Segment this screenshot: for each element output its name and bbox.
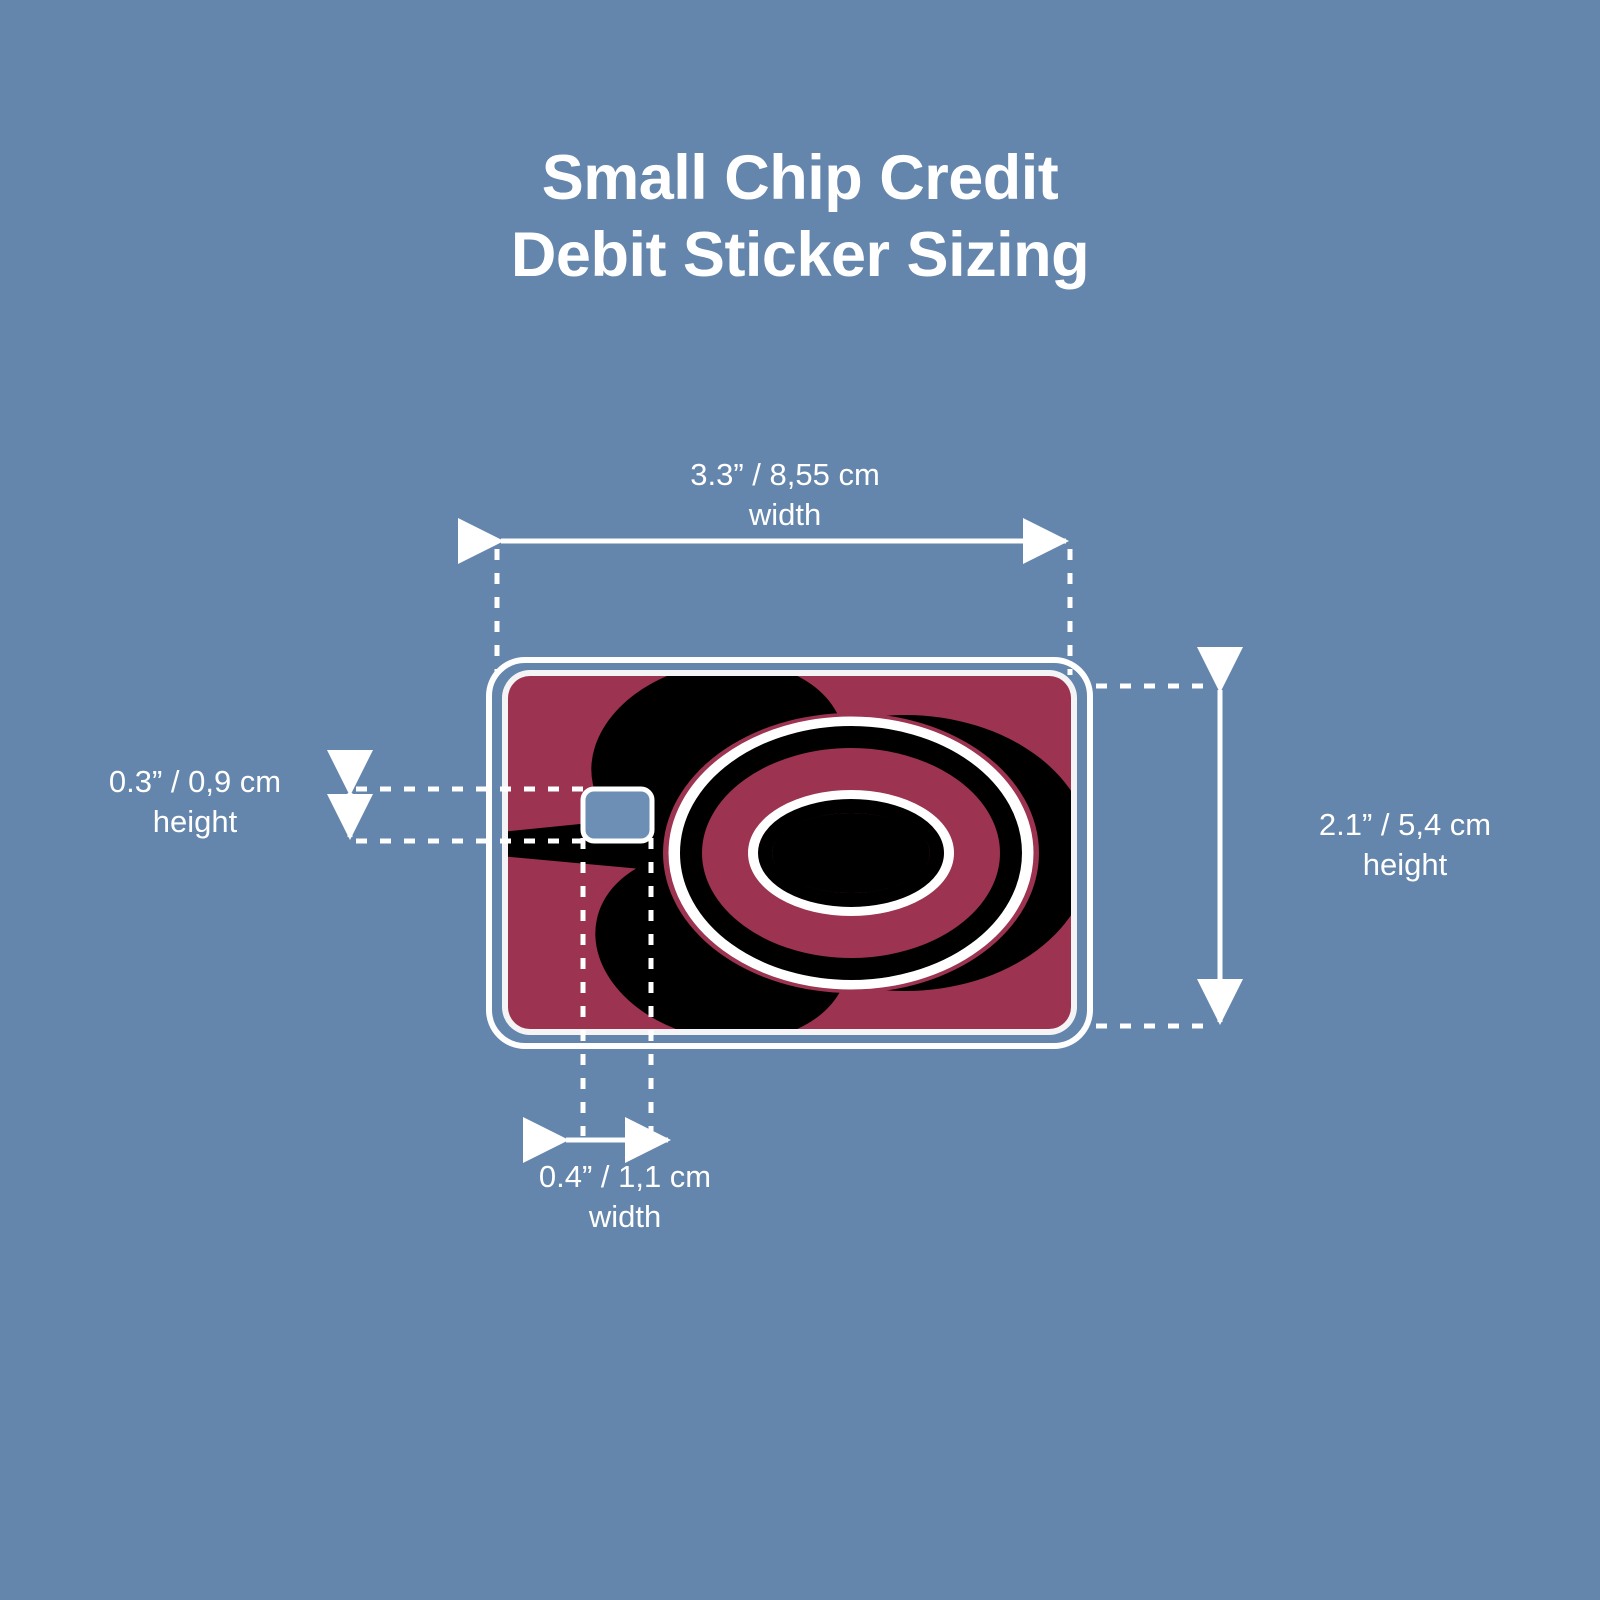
- label-card-width-value: 3.3” / 8,55 cm: [560, 455, 1010, 495]
- label-chip-height-unit: height: [60, 802, 330, 842]
- emv-chip: [583, 789, 652, 841]
- dimension-card-height: [1096, 686, 1220, 1026]
- label-chip-width-unit: width: [430, 1197, 820, 1237]
- label-chip-width-value: 0.4” / 1,1 cm: [430, 1157, 820, 1197]
- label-card-height-value: 2.1” / 5,4 cm: [1240, 805, 1570, 845]
- label-card-height-unit: height: [1240, 845, 1570, 885]
- credit-card-mockup: [489, 639, 1091, 1063]
- label-card-width: 3.3” / 8,55 cm width: [560, 455, 1010, 534]
- artwork-center-ellipse: [772, 813, 930, 893]
- sizing-diagram-page: Small Chip Credit Debit Sticker Sizing 3…: [0, 0, 1600, 1600]
- label-chip-width: 0.4” / 1,1 cm width: [430, 1157, 820, 1236]
- label-card-width-unit: width: [560, 495, 1010, 535]
- label-card-height: 2.1” / 5,4 cm height: [1240, 805, 1570, 884]
- dimension-card-width: [497, 541, 1070, 675]
- label-chip-height-value: 0.3” / 0,9 cm: [60, 762, 330, 802]
- label-chip-height: 0.3” / 0,9 cm height: [60, 762, 330, 841]
